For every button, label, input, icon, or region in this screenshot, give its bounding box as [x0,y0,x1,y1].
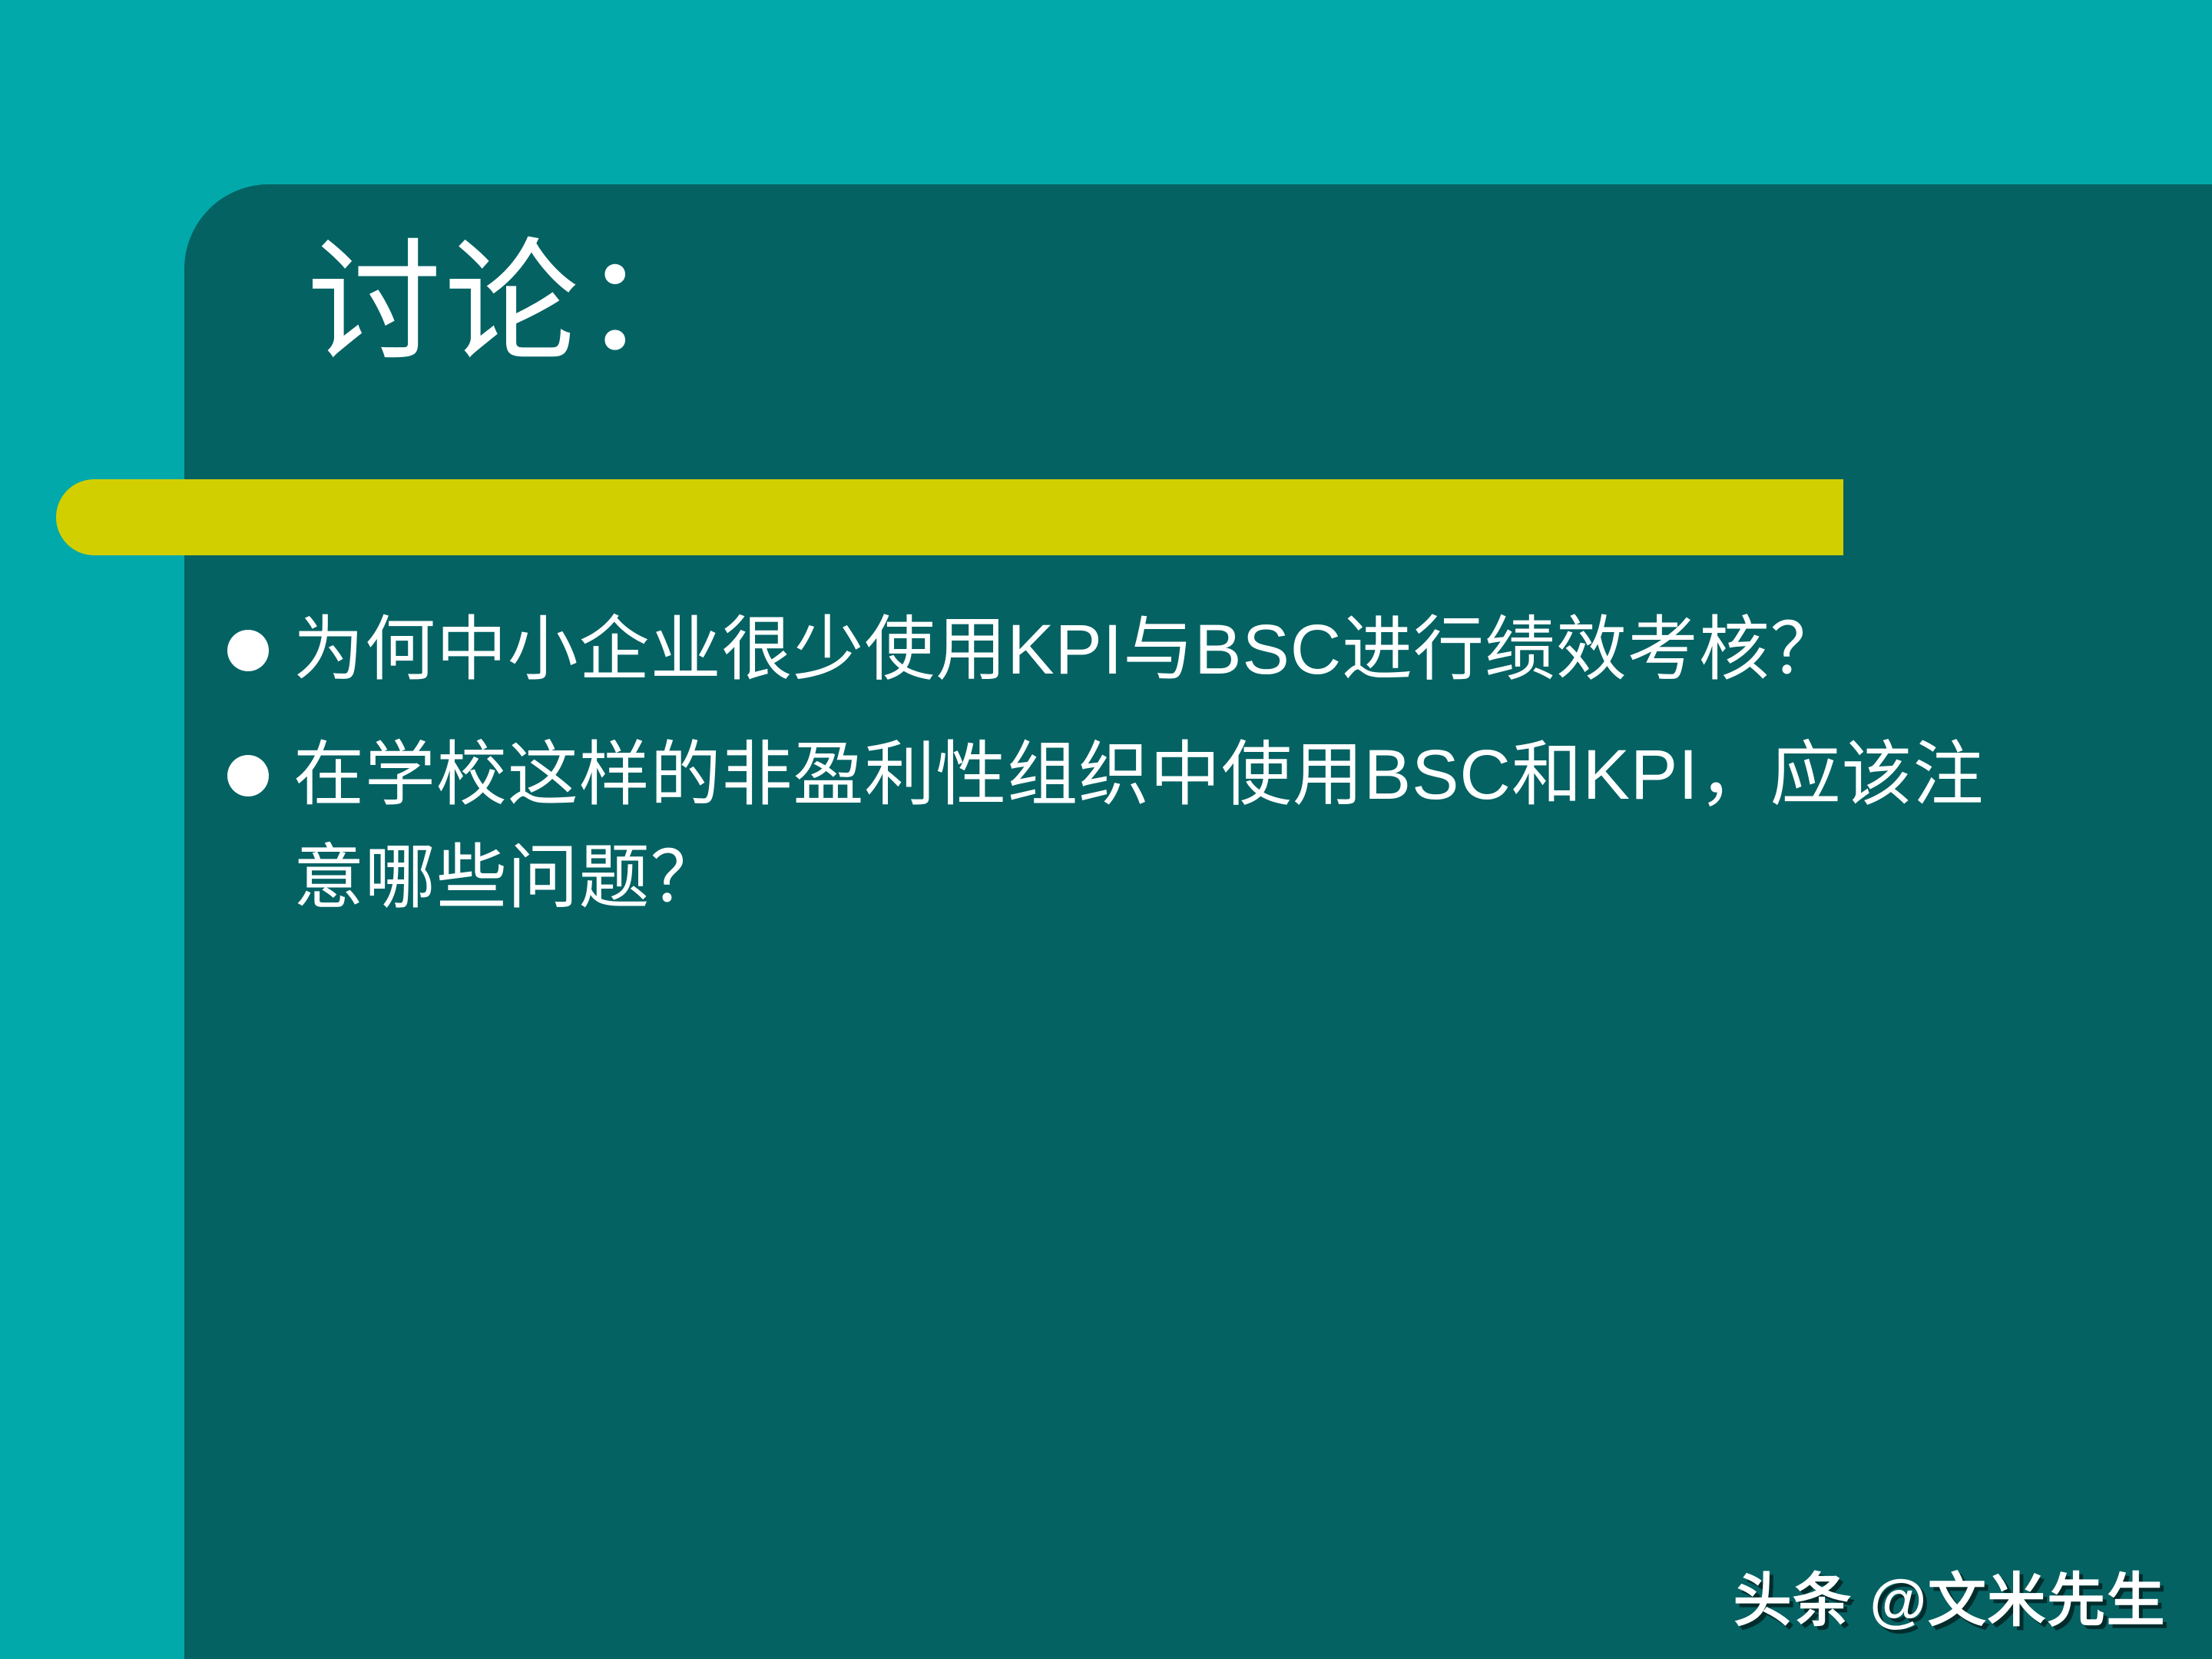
yellow-divider-bar [56,479,1843,555]
watermark-label: 头条 @文米先生 [1734,1553,2166,1637]
bullet-dot-icon [227,755,269,796]
bullet-item-text: 在学校这样的非盈利性组织中使用BSC和KPI，应该注意哪些问题？ [293,724,2017,929]
bullet-dot-icon [227,630,269,671]
bullet-item-text: 为何中小企业很少使用KPI与BSC进行绩效考核？ [293,599,1842,701]
list-item: 为何中小企业很少使用KPI与BSC进行绩效考核？ [227,599,2017,701]
left-accent-strip [0,0,184,1659]
list-item: 在学校这样的非盈利性组织中使用BSC和KPI，应该注意哪些问题？ [227,724,2017,929]
bullet-list: 为何中小企业很少使用KPI与BSC进行绩效考核？ 在学校这样的非盈利性组织中使用… [227,599,2017,952]
presentation-slide: 讨论： 为何中小企业很少使用KPI与BSC进行绩效考核？ 在学校这样的非盈利性组… [0,0,2212,1659]
slide-title: 讨论： [307,230,719,379]
